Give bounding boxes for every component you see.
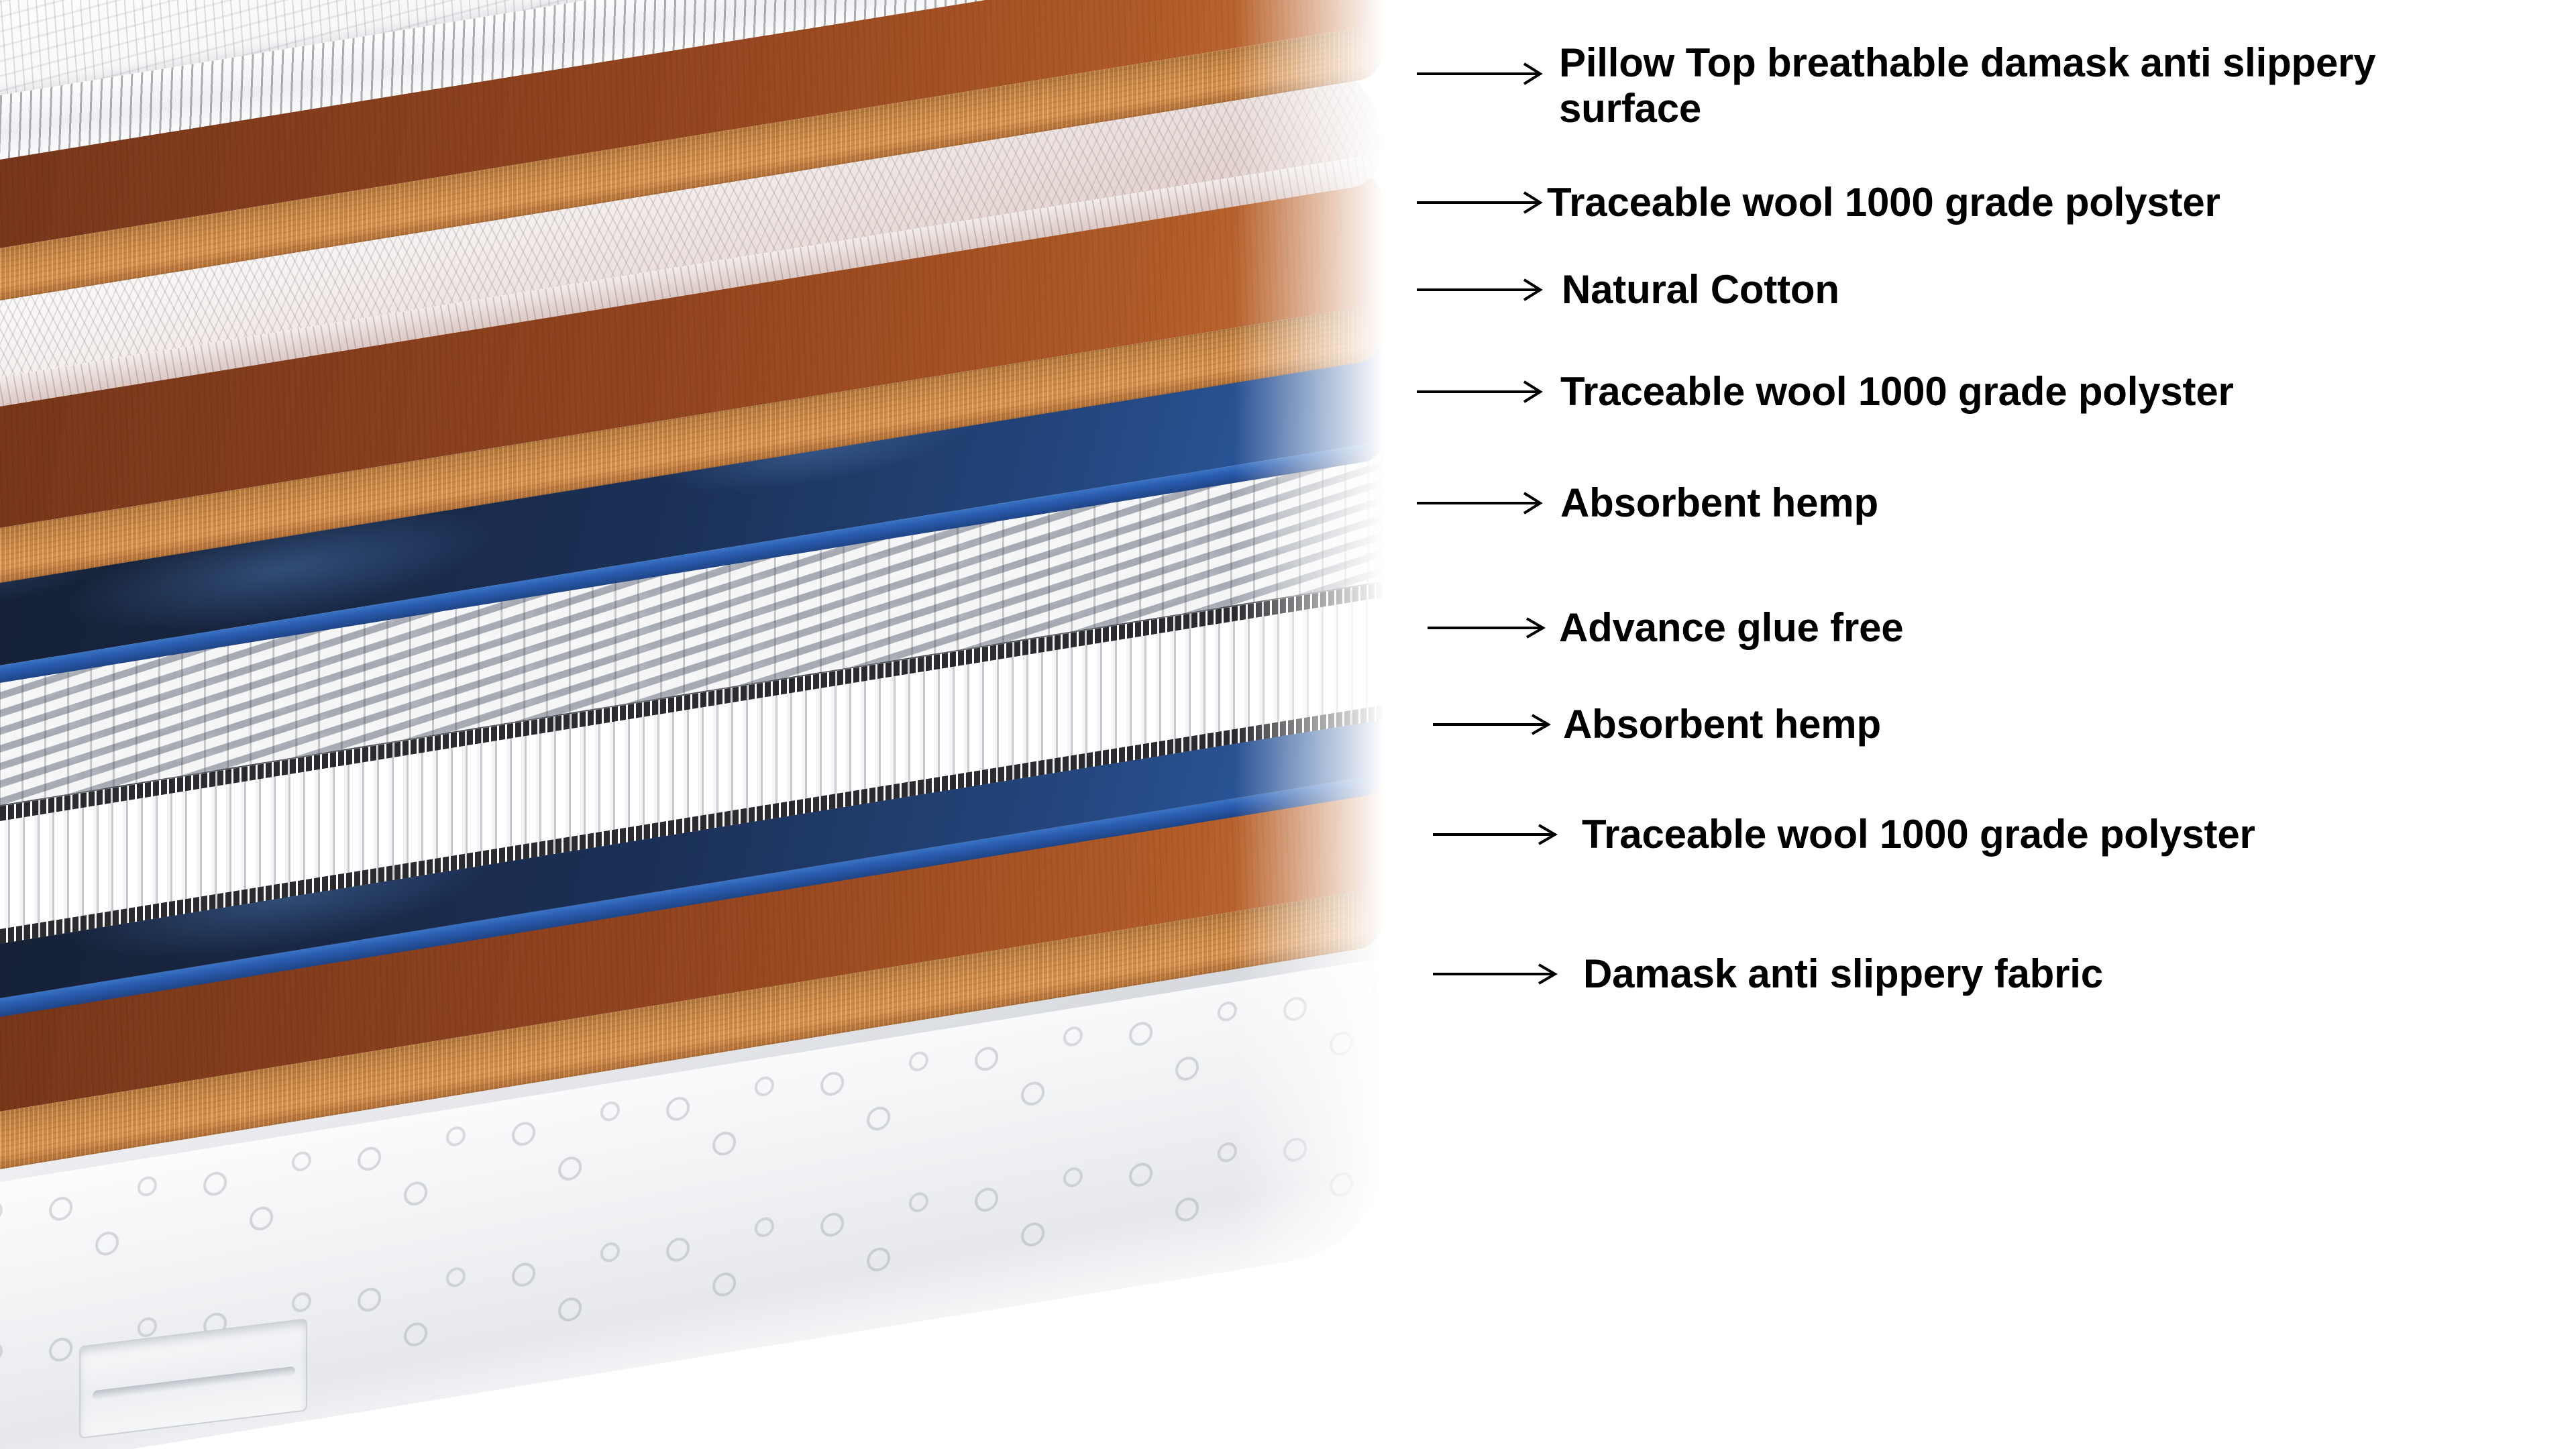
callout-label: Traceable wool 1000 grade polyster xyxy=(1560,369,2234,415)
mattress-illustration xyxy=(0,0,1409,1449)
arrow-right-icon xyxy=(1415,276,1544,303)
callout-advance-glue-free: Advance glue free xyxy=(1426,605,1903,651)
callout-wool-polyster-2: Traceable wool 1000 grade polyster xyxy=(1415,369,2234,415)
arrow-right-icon xyxy=(1415,60,1544,87)
arrow-right-icon xyxy=(1415,378,1544,405)
callout-list: Pillow Top breathable damask anti slippe… xyxy=(1402,0,2576,1449)
arrow-right-icon xyxy=(1415,490,1544,517)
callout-label: Traceable wool 1000 grade polyster xyxy=(1582,812,2255,857)
callout-label: Natural Cotton xyxy=(1562,267,1839,313)
callout-wool-polyster-3: Traceable wool 1000 grade polyster xyxy=(1432,812,2255,857)
callout-hemp-2: Absorbent hemp xyxy=(1432,702,1881,747)
callout-damask-fabric: Damask anti slippery fabric xyxy=(1432,951,2103,997)
arrow-right-icon xyxy=(1432,961,1559,987)
arrow-right-icon xyxy=(1432,821,1559,848)
mattress-layer-pillow-top xyxy=(0,0,1409,215)
callout-label: Traceable wool 1000 grade polyster xyxy=(1547,180,2220,225)
arrow-right-icon xyxy=(1432,711,1552,738)
callout-natural-cotton: Natural Cotton xyxy=(1415,267,1839,313)
arrow-right-icon xyxy=(1426,614,1547,641)
callout-hemp-1: Absorbent hemp xyxy=(1415,480,1878,526)
callout-label: Advance glue free xyxy=(1559,605,1903,651)
callout-wool-polyster-1: Traceable wool 1000 grade polyster xyxy=(1415,180,2220,225)
mattress-layer-diagram: Pillow Top breathable damask anti slippe… xyxy=(0,0,2576,1449)
callout-label: Damask anti slippery fabric xyxy=(1583,951,2103,997)
callout-label: Absorbent hemp xyxy=(1560,480,1878,526)
callout-pillow-top: Pillow Top breathable damask anti slippe… xyxy=(1415,40,2375,132)
callout-label: Absorbent hemp xyxy=(1563,702,1881,747)
arrow-right-icon xyxy=(1415,189,1544,216)
callout-label: Pillow Top breathable damask anti slippe… xyxy=(1559,40,2375,132)
